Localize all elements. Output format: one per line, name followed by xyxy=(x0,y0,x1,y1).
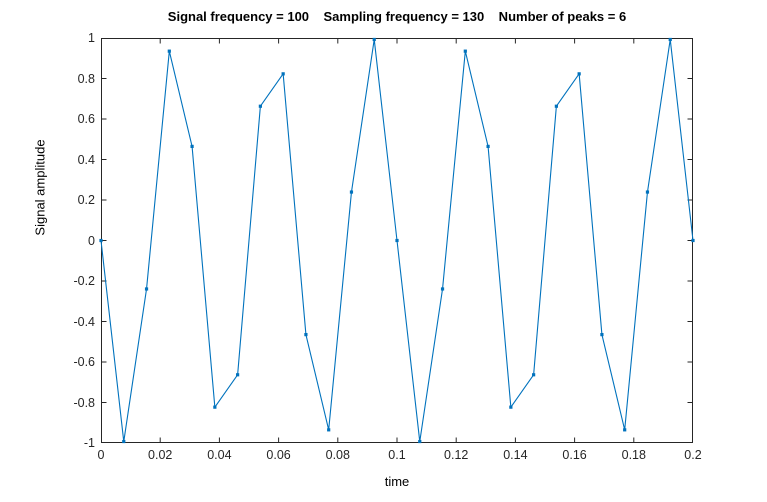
data-point-marker xyxy=(304,333,307,336)
x-tick-label: 0.14 xyxy=(485,448,545,462)
x-axis-tick-labels: 00.020.040.060.080.10.120.140.160.180.2 xyxy=(101,448,693,468)
data-point-marker xyxy=(145,287,148,290)
data-point-marker xyxy=(509,406,512,409)
data-point-marker xyxy=(691,239,694,242)
y-tick-label: 0.2 xyxy=(51,193,95,207)
x-tick-label: 0.04 xyxy=(189,448,249,462)
y-axis-label: Signal amplitude xyxy=(33,128,48,248)
data-point-marker xyxy=(395,239,398,242)
data-point-marker xyxy=(532,373,535,376)
x-tick-label: 0.06 xyxy=(249,448,309,462)
data-point-marker xyxy=(168,50,171,53)
signal-markers xyxy=(99,38,694,443)
matlab-figure-window: Signal frequency = 100 Sampling frequenc… xyxy=(0,0,767,502)
data-point-marker xyxy=(486,145,489,148)
x-tick-label: 0.18 xyxy=(604,448,664,462)
data-point-marker xyxy=(373,38,376,41)
y-tick-label: 1 xyxy=(51,31,95,45)
y-tick-label: -0.2 xyxy=(51,274,95,288)
y-tick-label: -0.6 xyxy=(51,355,95,369)
data-point-marker xyxy=(282,72,285,75)
y-tick-label: 0.6 xyxy=(51,112,95,126)
data-point-marker xyxy=(623,428,626,431)
data-point-marker xyxy=(464,50,467,53)
data-point-marker xyxy=(646,190,649,193)
x-tick-label: 0 xyxy=(71,448,131,462)
plot-canvas xyxy=(101,38,693,443)
x-tick-label: 0.1 xyxy=(367,448,427,462)
x-tick-label: 0.16 xyxy=(545,448,605,462)
data-point-marker xyxy=(669,38,672,41)
x-tick-label: 0.02 xyxy=(130,448,190,462)
x-axis-label: time xyxy=(101,474,693,489)
data-point-marker xyxy=(441,287,444,290)
plot-title: Signal frequency = 100 Sampling frequenc… xyxy=(101,9,693,24)
data-point-marker xyxy=(578,72,581,75)
data-point-marker xyxy=(122,440,125,443)
data-point-marker xyxy=(350,190,353,193)
x-tick-label: 0.2 xyxy=(663,448,723,462)
x-tick-label: 0.08 xyxy=(308,448,368,462)
y-tick-label: 0.4 xyxy=(51,153,95,167)
data-point-marker xyxy=(213,406,216,409)
y-tick-label: -0.4 xyxy=(51,315,95,329)
data-point-marker xyxy=(418,440,421,443)
y-axis-tick-labels: -1-0.8-0.6-0.4-0.200.20.40.60.81 xyxy=(51,38,95,443)
y-tick-label: 0 xyxy=(51,234,95,248)
data-point-marker xyxy=(190,145,193,148)
data-point-marker xyxy=(555,105,558,108)
data-point-marker xyxy=(327,428,330,431)
data-point-marker xyxy=(259,105,262,108)
data-point-marker xyxy=(236,373,239,376)
data-point-marker xyxy=(600,333,603,336)
y-tick-label: -0.8 xyxy=(51,396,95,410)
data-point-marker xyxy=(99,239,102,242)
x-tick-label: 0.12 xyxy=(426,448,486,462)
y-tick-label: 0.8 xyxy=(51,72,95,86)
